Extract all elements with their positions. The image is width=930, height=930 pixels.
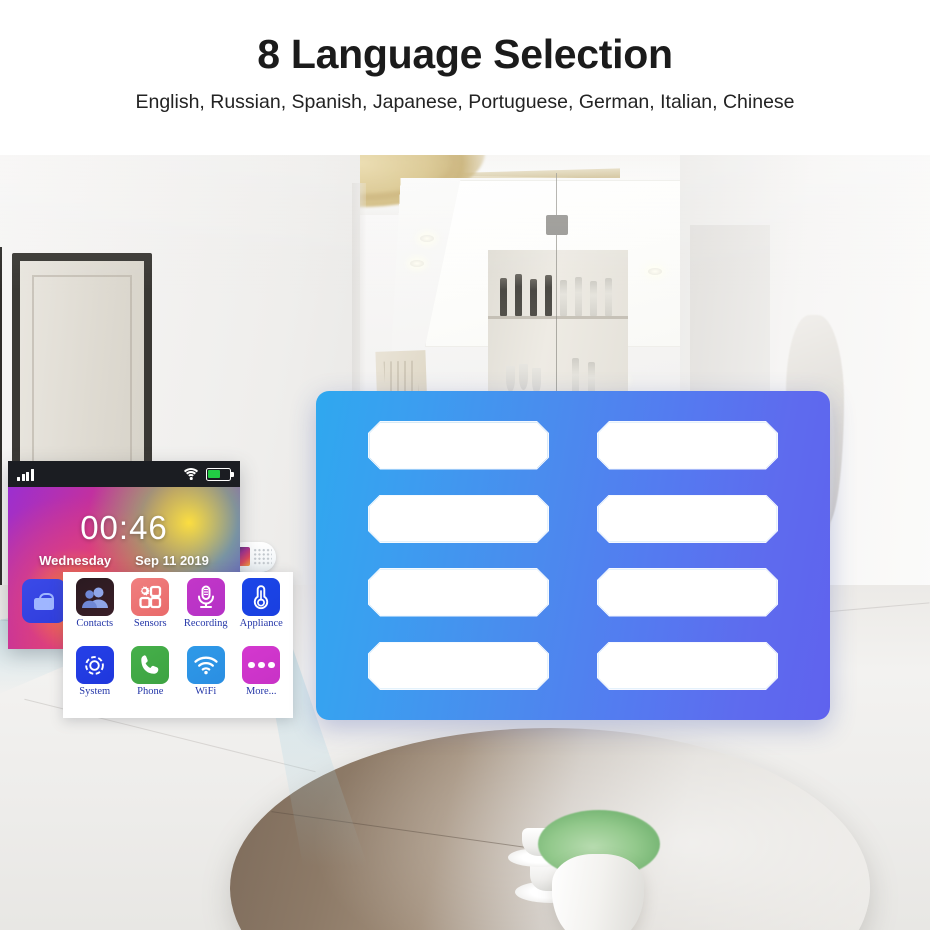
app-label: System [79, 686, 110, 697]
app-label: Appliance [240, 618, 283, 629]
glassware [519, 364, 528, 390]
app-more[interactable]: More... [234, 646, 290, 714]
thermometer-icon [242, 578, 280, 616]
language-button-english-wrap: English [368, 421, 549, 470]
ellipsis-dots [248, 662, 275, 669]
app-label: More... [246, 686, 277, 697]
ellipsis-icon [242, 646, 280, 684]
app-phone[interactable]: Phone [123, 646, 179, 714]
clock-date: Sep 11 2019 [135, 553, 209, 568]
header: 8 Language Selection English, Russian, S… [0, 0, 930, 155]
language-button-spanish-wrap: Spanish [368, 495, 549, 544]
product-feature-image: 8 Language Selection English, Russian, S… [0, 0, 930, 930]
battery-fill [208, 470, 220, 478]
wine-bottle [590, 281, 597, 316]
battery-icon [206, 468, 231, 481]
app-grid-card: Contacts Sensors [63, 572, 293, 718]
language-button-chinese[interactable]: Chinese [598, 569, 776, 615]
language-button-chinese-wrap: Chinese [597, 568, 778, 617]
app-system[interactable]: System [67, 646, 123, 714]
wine-bottle [605, 278, 612, 316]
sensors-icon [131, 578, 169, 616]
wine-bottle [575, 277, 582, 316]
language-button-portuguese-wrap: Portuguese [597, 642, 778, 691]
cabinet-shelf [488, 316, 628, 319]
vase [552, 854, 644, 930]
app-appliance[interactable]: Appliance [234, 578, 290, 646]
language-selection-panel: English Russian Spanish Italian German C… [316, 391, 830, 720]
gear-icon [76, 646, 114, 684]
status-bar-right [183, 468, 231, 481]
app-label: Recording [184, 618, 228, 629]
lock-icon[interactable] [22, 579, 66, 623]
app-label: WiFi [195, 686, 216, 697]
glassware [506, 366, 515, 392]
language-button-english[interactable]: English [369, 422, 547, 468]
language-button-spanish[interactable]: Spanish [369, 496, 547, 542]
app-contacts[interactable]: Contacts [67, 578, 123, 646]
downlight [648, 268, 662, 275]
wifi-dot [190, 477, 193, 480]
language-button-german[interactable]: German [369, 569, 547, 615]
keypad-buttons [253, 548, 272, 566]
app-label: Sensors [134, 618, 167, 629]
app-label: Phone [137, 686, 163, 697]
lock-glyph [34, 593, 54, 610]
contacts-icon [76, 578, 114, 616]
lock-body [34, 598, 54, 610]
clock-weekday: Wednesday [39, 553, 111, 568]
app-grid: Contacts Sensors [63, 572, 293, 718]
language-button-russian-wrap: Russian [597, 421, 778, 470]
wine-bottle [500, 278, 507, 316]
pendant-light-wire [556, 173, 557, 423]
language-button-german-wrap: German [368, 568, 549, 617]
clock-time: 00:46 [8, 509, 240, 547]
language-button-japanese[interactable]: Japanese [369, 643, 547, 689]
date-row: Wednesday Sep 11 2019 [8, 553, 240, 568]
microphone-icon [187, 578, 225, 616]
status-bar [8, 461, 240, 487]
wifi-icon [187, 646, 225, 684]
app-sensors[interactable]: Sensors [123, 578, 179, 646]
page-subtitle: English, Russian, Spanish, Japanese, Por… [135, 91, 794, 114]
downlight [410, 260, 424, 267]
wine-bottle [515, 274, 522, 316]
language-grid: English Russian Spanish Italian German C… [368, 421, 778, 690]
signal-bars-icon [17, 468, 34, 481]
wine-bottle [560, 280, 567, 316]
app-wifi[interactable]: WiFi [178, 646, 234, 714]
app-label: Contacts [76, 618, 113, 629]
wine-bottle [530, 279, 537, 316]
wifi-icon [183, 468, 199, 480]
language-button-italian-wrap: Italian [597, 495, 778, 544]
language-button-italian[interactable]: Italian [598, 496, 776, 542]
wine-bottle [545, 275, 552, 316]
page-title: 8 Language Selection [257, 32, 673, 77]
language-button-russian[interactable]: Russian [598, 422, 776, 468]
language-button-portuguese[interactable]: Portuguese [598, 643, 776, 689]
pendant-light-mount [546, 215, 568, 235]
app-recording[interactable]: Recording [178, 578, 234, 646]
downlight [420, 235, 434, 242]
language-button-japanese-wrap: Japanese [368, 642, 549, 691]
door-side-panel [0, 247, 2, 637]
phone-icon [131, 646, 169, 684]
